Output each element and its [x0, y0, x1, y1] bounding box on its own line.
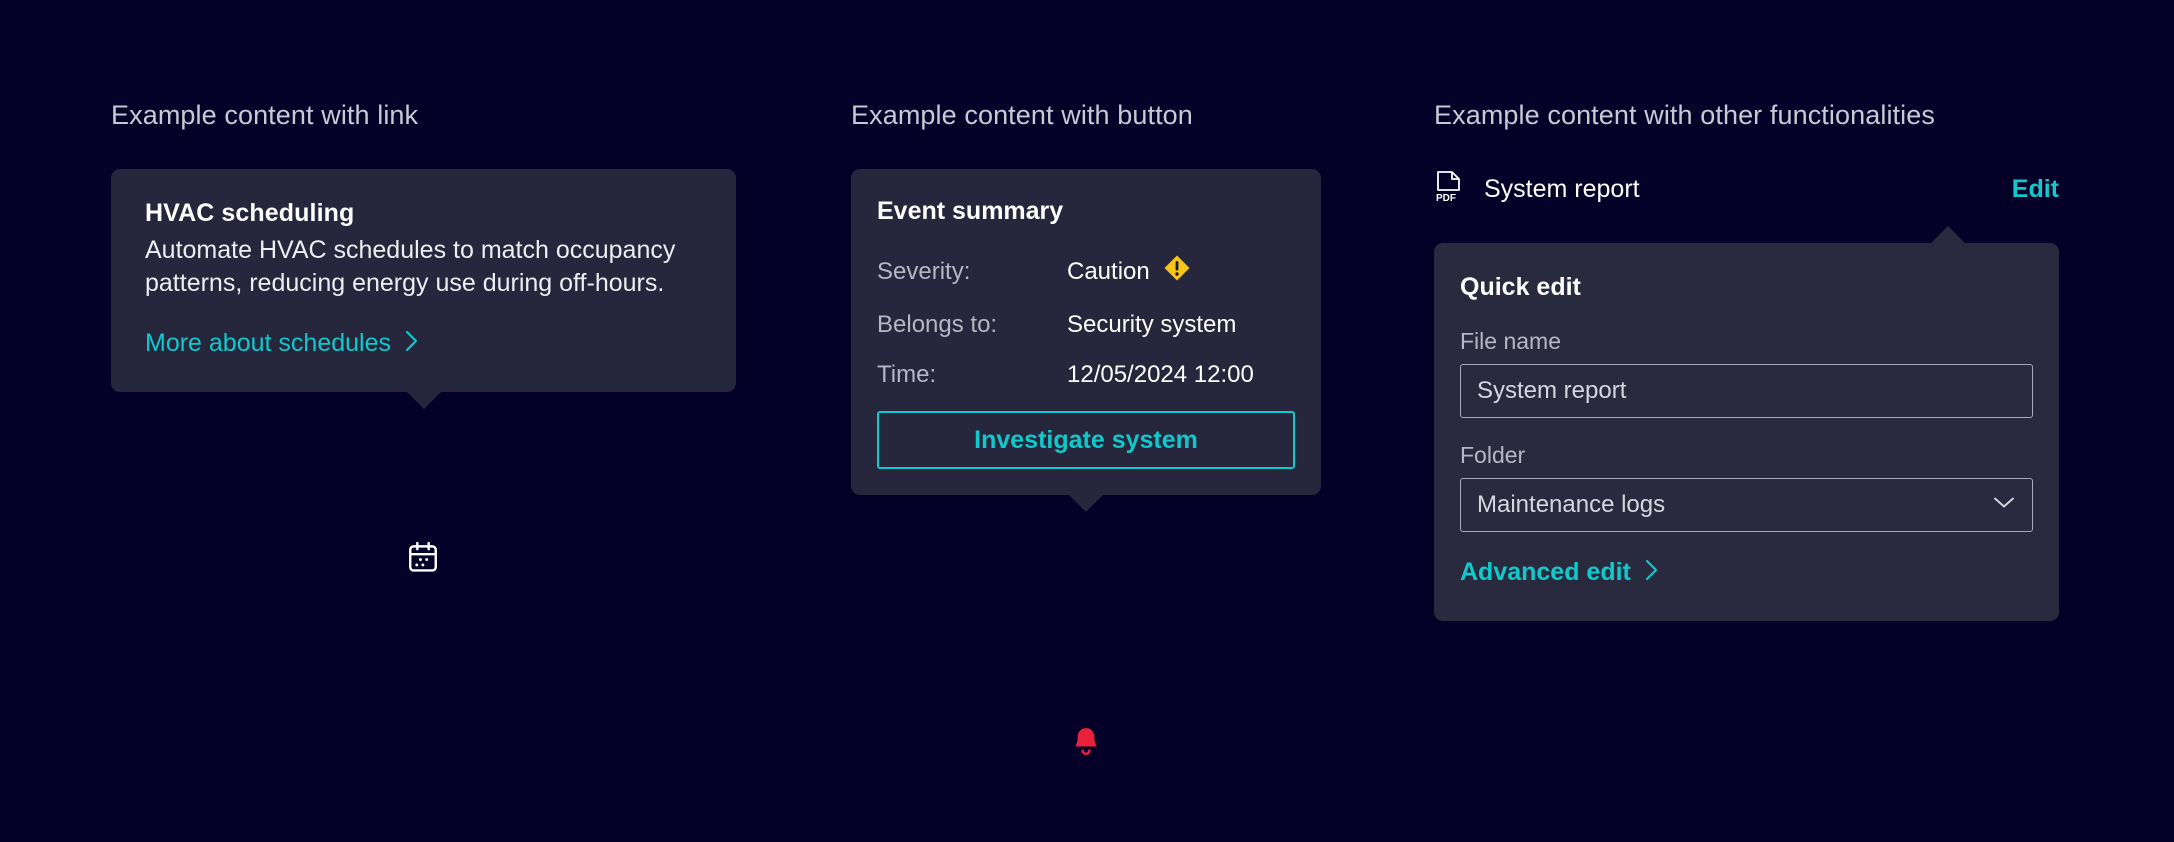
- column-link-example: Example content with link HVAC schedulin…: [111, 100, 851, 621]
- file-row: PDF System report Edit: [1434, 169, 2059, 209]
- row-value: Security system: [1067, 311, 1236, 339]
- row-key: Time:: [877, 361, 1067, 389]
- file-name-label: System report: [1484, 175, 1640, 204]
- quick-edit-popover: Quick edit File name Folder Maintenance …: [1434, 243, 2059, 621]
- file-name-field-block: File name: [1460, 328, 2033, 418]
- file-name-label: File name: [1460, 328, 2033, 355]
- card-notch-down: [1068, 494, 1104, 512]
- card-title: Event summary: [877, 197, 1295, 226]
- link-label: More about schedules: [145, 329, 391, 358]
- hvac-scheduling-card: HVAC scheduling Automate HVAC schedules …: [111, 169, 736, 392]
- card-notch-down: [406, 391, 442, 409]
- bell-icon: [1069, 725, 1103, 764]
- column-2-heading: Example content with button: [851, 100, 1434, 131]
- summary-row-severity: Severity: Caution: [877, 254, 1295, 289]
- edit-link[interactable]: Edit: [2012, 175, 2059, 204]
- advanced-edit-label: Advanced edit: [1460, 558, 1631, 587]
- pdf-file-icon: PDF: [1434, 170, 1464, 209]
- folder-field-block: Folder Maintenance logs: [1460, 442, 2033, 532]
- file-name-input[interactable]: [1460, 364, 2033, 418]
- column-other-functionalities: Example content with other functionaliti…: [1434, 100, 2134, 621]
- summary-row-belongs-to: Belongs to: Security system: [877, 311, 1295, 339]
- event-summary-card: Event summary Severity: Caution Belongs: [851, 169, 1321, 495]
- row-value: 12/05/2024 12:00: [1067, 361, 1254, 389]
- summary-row-time: Time: 12/05/2024 12:00: [877, 361, 1295, 389]
- row-value-group: Caution: [1067, 254, 1191, 289]
- column-button-example: Example content with button Event summar…: [851, 100, 1434, 621]
- investigate-system-button[interactable]: Investigate system: [877, 411, 1295, 469]
- folder-label: Folder: [1460, 442, 2033, 469]
- row-key: Belongs to:: [877, 311, 1067, 339]
- row-key: Severity:: [877, 258, 1067, 286]
- card-title: HVAC scheduling: [145, 199, 702, 228]
- popover-notch-up: [1930, 226, 1966, 244]
- card-body-text: Automate HVAC schedules to match occupan…: [145, 234, 702, 301]
- content-columns: Example content with link HVAC schedulin…: [0, 0, 2174, 621]
- popover-title: Quick edit: [1460, 273, 2033, 302]
- chevron-right-icon: [1645, 558, 1659, 587]
- row-value: Caution: [1067, 258, 1150, 286]
- warning-diamond-icon: [1163, 254, 1191, 289]
- column-3-heading: Example content with other functionaliti…: [1434, 100, 2134, 131]
- calendar-icon: [406, 540, 440, 579]
- more-about-schedules-link[interactable]: More about schedules: [145, 329, 419, 358]
- chevron-right-icon: [405, 329, 419, 358]
- column-1-heading: Example content with link: [111, 100, 851, 131]
- folder-select-wrap: Maintenance logs: [1460, 478, 2033, 532]
- svg-text:PDF: PDF: [1436, 193, 1456, 204]
- folder-select[interactable]: Maintenance logs: [1460, 478, 2033, 532]
- advanced-edit-link[interactable]: Advanced edit: [1460, 558, 1659, 587]
